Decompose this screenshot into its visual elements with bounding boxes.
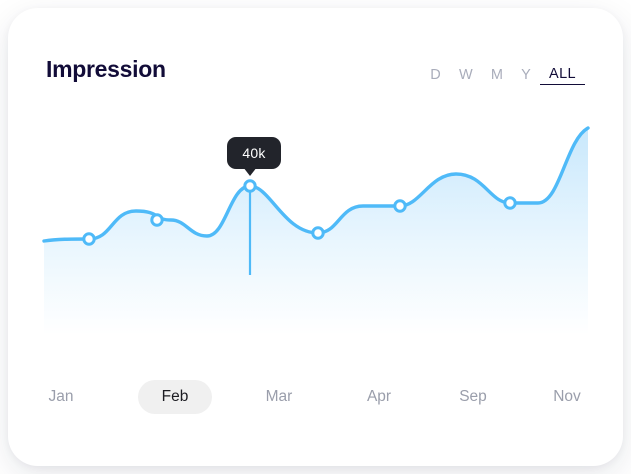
x-axis-label-jan[interactable]: Jan [30, 380, 92, 414]
x-axis-labels: Jan Feb Mar Apr Sep Nov [8, 380, 623, 428]
screenshot-root: Impression D W M Y ALL [0, 0, 631, 474]
value-tooltip: 40k [227, 137, 281, 169]
x-axis-label-nov[interactable]: Nov [536, 380, 598, 414]
x-axis-label-mar[interactable]: Mar [248, 380, 310, 414]
data-point-marker[interactable] [505, 198, 515, 208]
tooltip-arrow-icon [243, 167, 257, 176]
x-axis-label-apr[interactable]: Apr [348, 380, 410, 414]
tooltip-value: 40k [242, 145, 265, 161]
data-point-marker[interactable] [395, 201, 405, 211]
x-axis-label-sep[interactable]: Sep [442, 380, 504, 414]
data-point-marker[interactable] [152, 215, 162, 225]
data-point-marker[interactable] [245, 181, 255, 191]
data-point-marker[interactable] [313, 228, 323, 238]
data-point-marker[interactable] [84, 234, 94, 244]
impression-chart-card: Impression D W M Y ALL [8, 8, 623, 466]
x-axis-label-feb[interactable]: Feb [138, 380, 212, 414]
